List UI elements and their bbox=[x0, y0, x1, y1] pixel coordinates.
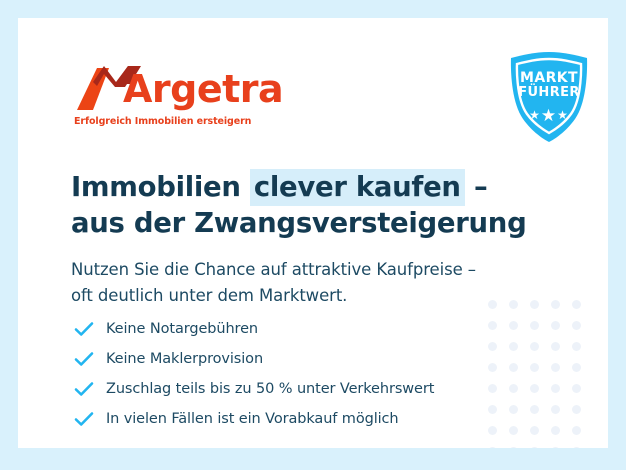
list-item-label: In vielen Fällen ist ein Vorabkauf mögli… bbox=[106, 411, 399, 427]
decorative-dot bbox=[551, 300, 560, 309]
list-item: Keine Notargebühren bbox=[74, 314, 544, 344]
list-item: Keine Maklerprovision bbox=[74, 344, 544, 374]
market-leader-badge: MARKT FÜHRER ★★★ bbox=[507, 51, 591, 143]
list-item-label: Zuschlag teils bis zu 50 % unter Verkehr… bbox=[106, 381, 434, 397]
decorative-dot bbox=[551, 384, 560, 393]
list-item: Zuschlag teils bis zu 50 % unter Verkehr… bbox=[74, 374, 544, 404]
check-icon bbox=[74, 344, 106, 374]
decorative-dot bbox=[572, 342, 581, 351]
subtitle: Nutzen Sie die Chance auf attraktive Kau… bbox=[71, 257, 541, 309]
decorative-dot bbox=[572, 447, 581, 448]
star-icon-center: ★ bbox=[541, 106, 557, 125]
decorative-dot bbox=[551, 405, 560, 414]
check-icon bbox=[74, 404, 106, 434]
headline-text-after: – bbox=[465, 171, 488, 203]
decorative-dot bbox=[572, 384, 581, 393]
badge-stars: ★★★ bbox=[507, 107, 591, 124]
subtitle-line-1: Nutzen Sie die Chance auf attraktive Kau… bbox=[71, 257, 541, 283]
list-item-label: Keine Notargebühren bbox=[106, 321, 258, 337]
banner-card: Argetra Erfolgreich Immobilien ersteiger… bbox=[18, 18, 608, 448]
badge-text: MARKT FÜHRER bbox=[507, 71, 591, 99]
decorative-dot bbox=[572, 405, 581, 414]
badge-line-1: MARKT bbox=[507, 71, 591, 86]
logo-wordmark: Argetra bbox=[123, 70, 283, 108]
decorative-dot bbox=[551, 447, 560, 448]
check-icon bbox=[74, 374, 106, 404]
star-icon-left: ★ bbox=[529, 108, 541, 122]
star-icon-right: ★ bbox=[557, 108, 569, 122]
decorative-dot bbox=[572, 321, 581, 330]
headline: Immobilien clever kaufen – aus der Zwang… bbox=[71, 169, 541, 241]
headline-highlight: clever kaufen bbox=[250, 169, 465, 206]
list-item: In vielen Fällen ist ein Vorabkauf mögli… bbox=[74, 404, 544, 434]
headline-line-2: aus der Zwangsversteigerung bbox=[71, 205, 541, 241]
list-item-label: Keine Maklerprovision bbox=[106, 351, 263, 367]
check-icon bbox=[74, 314, 106, 344]
decorative-dot bbox=[572, 363, 581, 372]
promo-banner: Argetra Erfolgreich Immobilien ersteiger… bbox=[0, 0, 626, 470]
logo-tagline: Erfolgreich Immobilien ersteigern bbox=[74, 116, 251, 127]
decorative-dot bbox=[488, 447, 497, 448]
benefits-list: Keine Notargebühren Keine Maklerprovisio… bbox=[74, 314, 544, 434]
decorative-dot bbox=[551, 363, 560, 372]
subtitle-line-2: oft deutlich unter dem Marktwert. bbox=[71, 283, 541, 309]
decorative-dot bbox=[530, 447, 539, 448]
decorative-dot bbox=[551, 426, 560, 435]
decorative-dot bbox=[572, 300, 581, 309]
headline-text-before: Immobilien bbox=[71, 171, 250, 203]
decorative-dot bbox=[551, 342, 560, 351]
argetra-logo: Argetra Erfolgreich Immobilien ersteiger… bbox=[73, 62, 273, 130]
decorative-dot bbox=[509, 447, 518, 448]
decorative-dot bbox=[551, 321, 560, 330]
decorative-dot bbox=[572, 426, 581, 435]
headline-line-1: Immobilien clever kaufen – bbox=[71, 169, 541, 205]
badge-line-2: FÜHRER bbox=[507, 86, 591, 100]
